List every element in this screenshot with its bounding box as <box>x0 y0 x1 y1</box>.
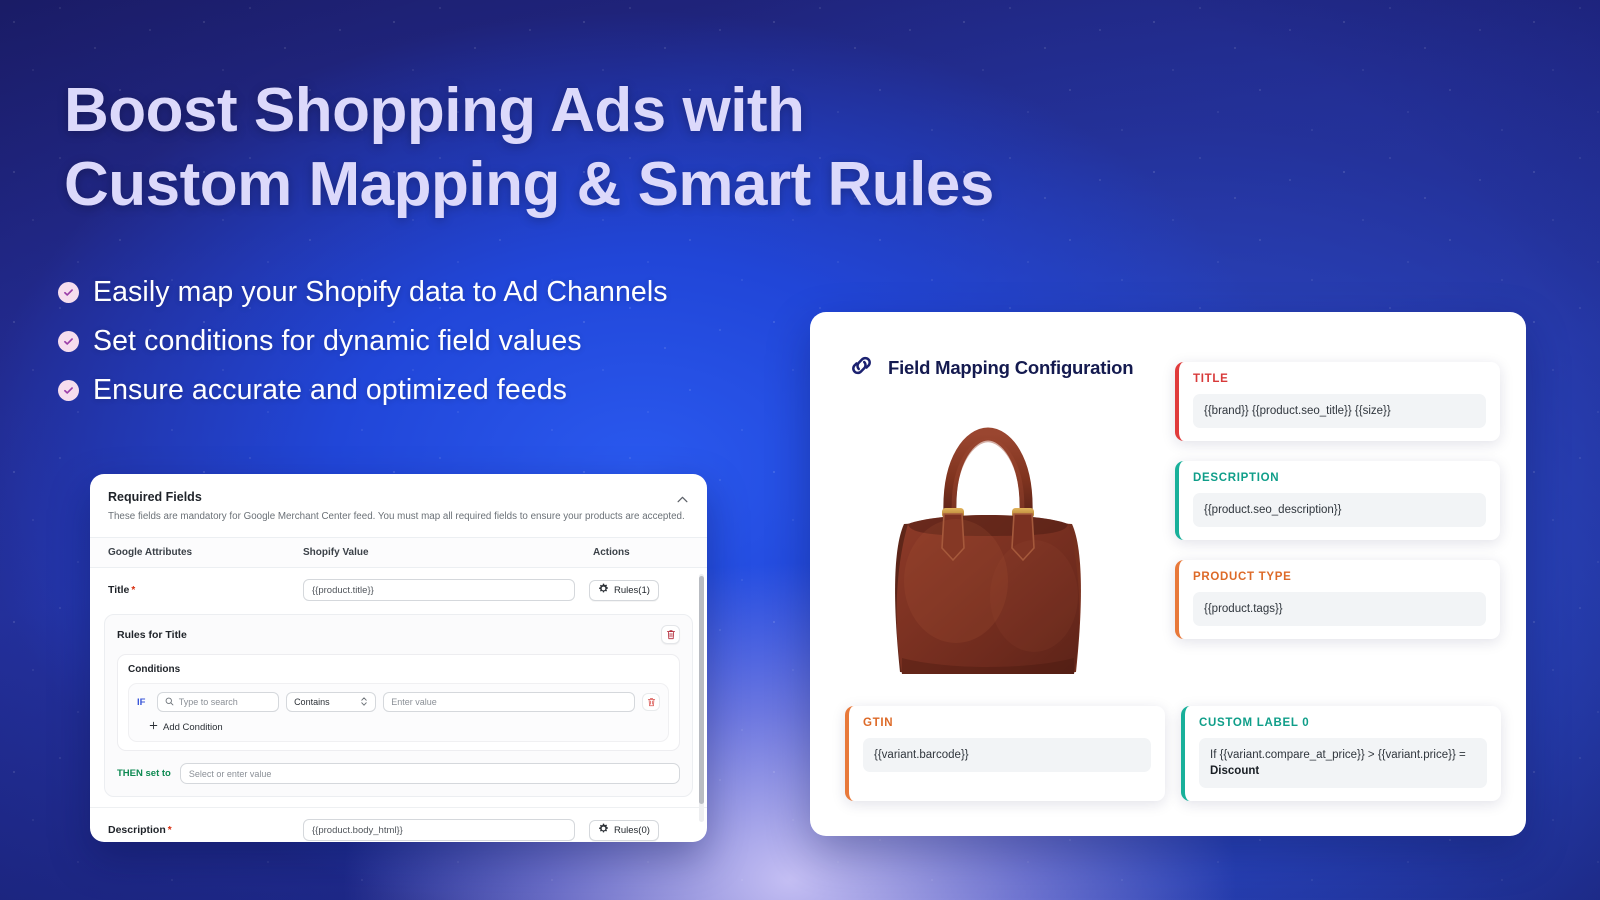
mapping-label: PRODUCT TYPE <box>1193 571 1486 583</box>
check-circle-icon <box>58 331 79 352</box>
mapping-label: CUSTOM LABEL 0 <box>1199 717 1487 729</box>
operator-select-value: Contains <box>294 697 330 707</box>
hero-headline: Boost Shopping Ads with Custom Mapping &… <box>64 74 1264 222</box>
mapping-value[interactable]: {{product.tags}} <box>1193 592 1486 626</box>
mapping-value[interactable]: {{variant.barcode}} <box>863 738 1151 772</box>
chevron-updown-icon <box>360 696 368 709</box>
then-value-input[interactable]: Select or enter value <box>180 763 680 784</box>
mapping-list-bottom: GTIN {{variant.barcode}} CUSTOM LABEL 0 … <box>845 706 1501 801</box>
conditions-label: Conditions <box>128 664 669 675</box>
condition-value-input[interactable]: Enter value <box>383 692 635 712</box>
mapping-card-gtin: GTIN {{variant.barcode}} <box>845 706 1165 801</box>
required-marker: * <box>131 585 135 596</box>
field-label-description: Description* <box>108 824 303 836</box>
rules-button-title[interactable]: Rules(1) <box>589 580 659 601</box>
hero-bullet-list: Easily map your Shopify data to Ad Chann… <box>58 268 668 414</box>
actions-cell: Rules(1) <box>589 580 659 601</box>
gear-icon <box>598 823 609 837</box>
trash-icon[interactable] <box>642 693 660 711</box>
required-fields-scroll-area: Title* {{product.title}} Rules(1) Rules … <box>90 568 707 830</box>
mapping-value-prefix: If {{variant.compare_at_price}} > {{vari… <box>1210 749 1466 761</box>
product-image-handbag <box>838 396 1138 686</box>
table-row: Description* {{product.body_html}} Rules… <box>90 808 707 842</box>
field-label-text: Title <box>108 584 129 596</box>
required-fields-subtitle: These fields are mandatory for Google Me… <box>108 510 689 523</box>
mapping-label: GTIN <box>863 717 1151 729</box>
headline-line-1: Boost Shopping Ads with <box>64 74 1264 148</box>
list-item: Easily map your Shopify data to Ad Chann… <box>58 268 668 316</box>
mapping-value[interactable]: {{brand}} {{product.seo_title}} {{size}} <box>1193 394 1486 428</box>
column-header-shopify-value: Shopify Value <box>303 547 593 558</box>
headline-line-2: Custom Mapping & Smart Rules <box>64 148 1264 222</box>
actions-cell: Rules(0) <box>589 820 659 841</box>
mapping-card-product-type: PRODUCT TYPE {{product.tags}} <box>1175 560 1500 639</box>
trash-icon[interactable] <box>661 625 680 644</box>
field-label-text: Description <box>108 824 166 836</box>
add-condition-button[interactable]: Add Condition <box>137 721 660 733</box>
rules-button-description[interactable]: Rules(0) <box>589 820 659 841</box>
list-item: Ensure accurate and optimized feeds <box>58 366 668 414</box>
mapping-card-title: TITLE {{brand}} {{product.seo_title}} {{… <box>1175 362 1500 441</box>
then-label: THEN set to <box>117 768 171 779</box>
mapping-card-description: DESCRIPTION {{product.seo_description}} <box>1175 461 1500 540</box>
mapping-value-bold: Discount <box>1210 765 1259 777</box>
rules-panel-header: Rules for Title <box>117 625 680 644</box>
rules-button-label: Rules(1) <box>614 585 650 596</box>
rules-panel: Rules for Title Conditions IF Type to se… <box>104 614 693 797</box>
mapping-value[interactable]: If {{variant.compare_at_price}} > {{vari… <box>1199 738 1487 788</box>
vertical-scrollbar-thumb[interactable] <box>699 576 704 804</box>
bullet-label: Set conditions for dynamic field values <box>93 325 582 358</box>
column-header-google-attributes: Google Attributes <box>108 547 303 558</box>
field-label-title: Title* <box>108 584 303 596</box>
mapping-card-custom-label-0: CUSTOM LABEL 0 If {{variant.compare_at_p… <box>1181 706 1501 801</box>
gear-icon <box>598 583 609 597</box>
mapping-label: DESCRIPTION <box>1193 472 1486 484</box>
condition-row-wrapper: IF Type to search Contains <box>128 683 669 742</box>
shopify-value-input-description[interactable]: {{product.body_html}} <box>303 819 575 841</box>
rules-panel-title: Rules for Title <box>117 629 187 641</box>
shopify-value-input-title[interactable]: {{product.title}} <box>303 579 575 601</box>
bullet-label: Ensure accurate and optimized feeds <box>93 374 567 407</box>
then-row: THEN set to Select or enter value <box>117 763 680 784</box>
condition-row: IF Type to search Contains <box>137 692 660 712</box>
add-condition-label: Add Condition <box>163 722 223 733</box>
rules-button-label: Rules(0) <box>614 825 650 836</box>
table-header-row: Google Attributes Shopify Value Actions <box>90 537 707 568</box>
chevron-up-icon[interactable] <box>675 492 689 506</box>
search-input[interactable]: Type to search <box>157 692 279 712</box>
search-input-placeholder: Type to search <box>179 697 238 707</box>
if-label: IF <box>137 697 150 708</box>
list-item: Set conditions for dynamic field values <box>58 317 668 365</box>
column-header-actions: Actions <box>593 547 683 558</box>
required-fields-card: Required Fields These fields are mandato… <box>90 474 707 842</box>
table-row: Title* {{product.title}} Rules(1) <box>90 568 707 612</box>
plus-icon <box>149 721 158 733</box>
required-marker: * <box>168 825 172 836</box>
page-title: Required Fields <box>108 490 689 504</box>
link-chain-icon <box>848 352 875 384</box>
check-circle-icon <box>58 282 79 303</box>
required-fields-header: Required Fields These fields are mandato… <box>90 474 707 529</box>
bullet-label: Easily map your Shopify data to Ad Chann… <box>93 276 668 309</box>
conditions-box: Conditions IF Type to search Contains <box>117 654 680 751</box>
mapping-label: TITLE <box>1193 373 1486 385</box>
mapping-value[interactable]: {{product.seo_description}} <box>1193 493 1486 527</box>
search-icon <box>165 697 174 708</box>
operator-select[interactable]: Contains <box>286 692 376 712</box>
mapping-list: TITLE {{brand}} {{product.seo_title}} {{… <box>1175 362 1500 659</box>
check-circle-icon <box>58 380 79 401</box>
field-mapping-title: Field Mapping Configuration <box>888 357 1133 379</box>
